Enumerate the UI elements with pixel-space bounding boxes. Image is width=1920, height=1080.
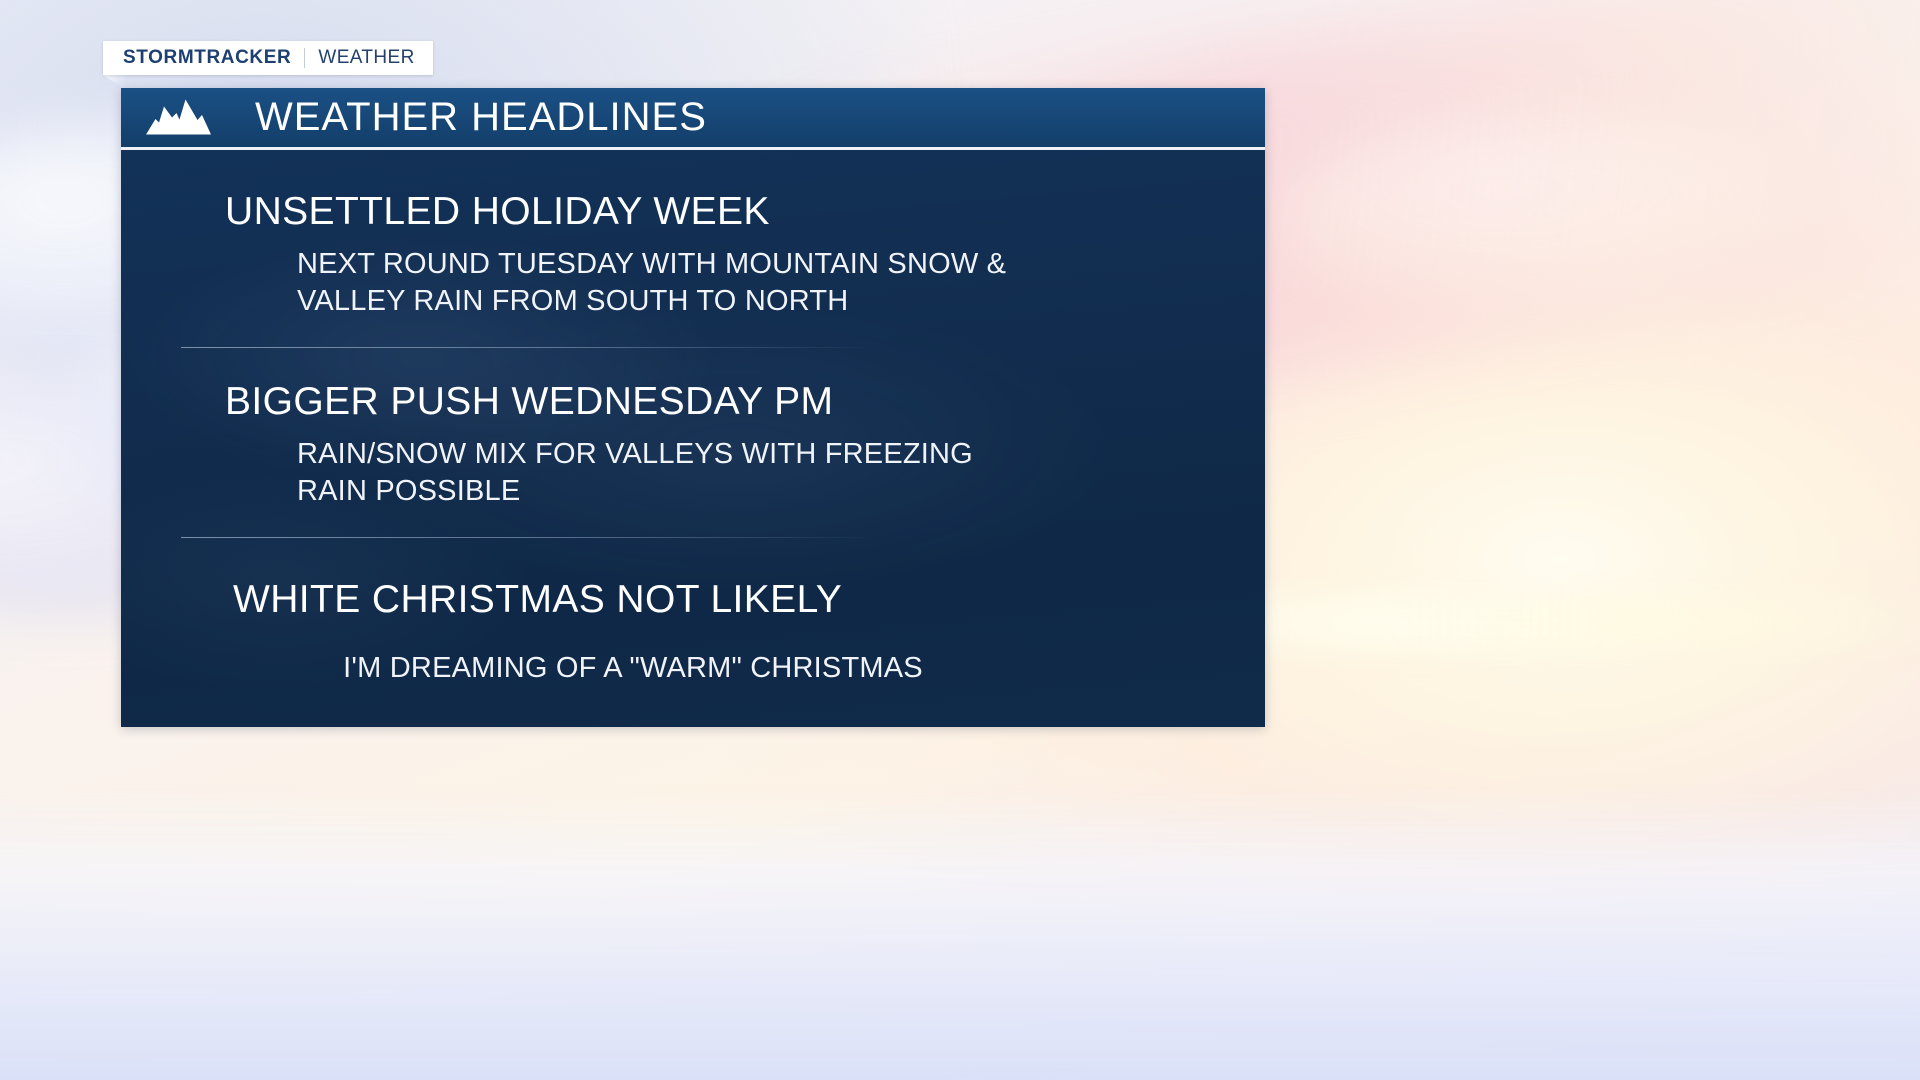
headline-subtitle: NEXT ROUND TUESDAY WITH MOUNTAIN SNOW & … (121, 240, 1021, 321)
panel-header: WEATHER HEADLINES (121, 88, 1265, 150)
headline-divider (181, 537, 873, 538)
weather-headlines-panel: WEATHER HEADLINES UNSETTLED HOLIDAY WEEK… (121, 88, 1265, 727)
tab-divider (304, 48, 305, 68)
headline-title: UNSETTLED HOLIDAY WEEK (121, 176, 1265, 240)
brand-tab[interactable]: STORMTRACKER WEATHER (103, 41, 433, 75)
cloud-shape (1280, 120, 1840, 320)
headline-title: WHITE CHRISTMAS NOT LIKELY (121, 556, 1265, 628)
panel-body: UNSETTLED HOLIDAY WEEK NEXT ROUND TUESDA… (121, 150, 1265, 727)
headline-item: UNSETTLED HOLIDAY WEEK NEXT ROUND TUESDA… (121, 176, 1265, 321)
brand-name: STORMTRACKER (123, 47, 291, 69)
headline-subtitle: RAIN/SNOW MIX FOR VALLEYS WITH FREEZING … (121, 430, 1021, 511)
cloud-deck-base (0, 790, 1920, 1080)
headline-title: BIGGER PUSH WEDNESDAY PM (121, 366, 1265, 430)
weather-graphic-stage: STORMTRACKER WEATHER WEATHER HEADLINES U… (0, 0, 1920, 1080)
panel-title: WEATHER HEADLINES (255, 95, 707, 140)
headline-item: WHITE CHRISTMAS NOT LIKELY I'M DREAMING … (121, 556, 1265, 687)
headline-subtitle: I'M DREAMING OF A "WARM" CHRISTMAS (121, 628, 1265, 688)
mountain-icon (145, 98, 211, 138)
tab-section-label: WEATHER (318, 47, 414, 69)
headline-item: BIGGER PUSH WEDNESDAY PM RAIN/SNOW MIX F… (121, 366, 1265, 511)
headline-divider (181, 347, 873, 348)
